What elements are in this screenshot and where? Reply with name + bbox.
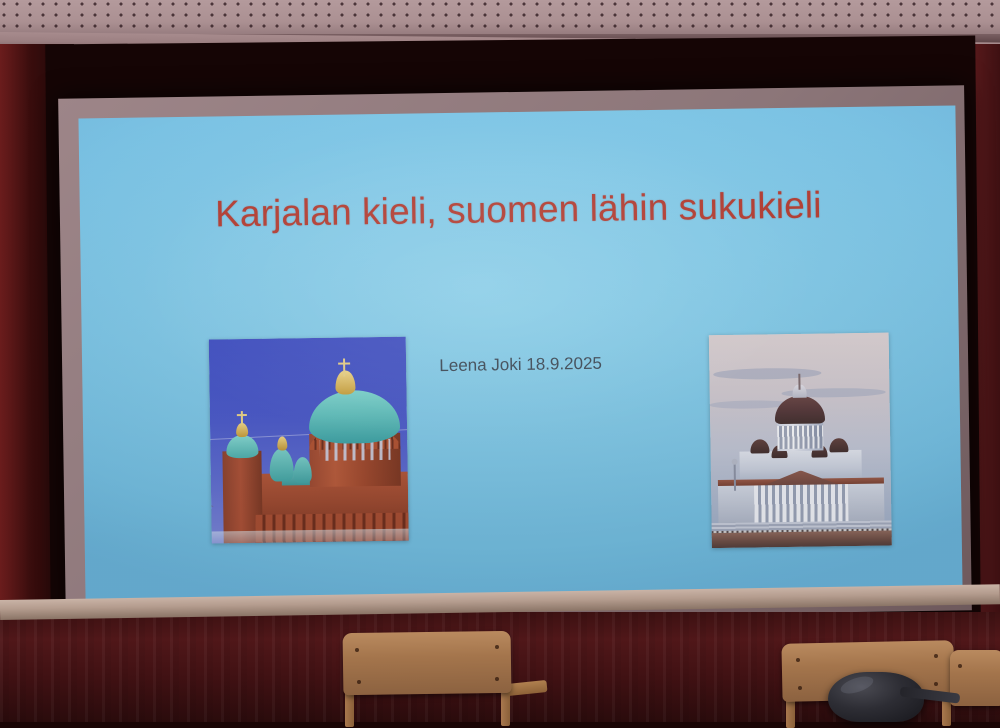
foreground-square: [712, 531, 892, 549]
presentation-slide[interactable]: Karjalan kieli, suomen lähin sukukieli L…: [78, 105, 962, 609]
lecture-room: Karjalan kieli, suomen lähin sukukieli L…: [0, 0, 1000, 722]
screw-icon: [495, 677, 499, 681]
screw-icon: [355, 648, 359, 652]
snow-ground: [212, 529, 409, 544]
screw-icon: [934, 654, 938, 658]
main-cross-icon: [343, 358, 345, 376]
left-wing: [718, 484, 758, 525]
projection-screen-frame: Karjalan kieli, suomen lähin sukukieli L…: [58, 85, 972, 623]
screw-icon: [934, 682, 938, 686]
middle-spire-a-cupola: [277, 437, 287, 451]
spire-icon: [798, 374, 800, 390]
left-tower-cupola: [236, 423, 248, 437]
left-tower-dome: [226, 435, 258, 458]
drum-columns: [777, 425, 824, 449]
lamp-post: [734, 463, 736, 491]
wooden-chair-center[interactable]: [335, 632, 525, 722]
wooden-chair-far-right[interactable]: [950, 644, 1000, 722]
right-wing: [844, 482, 884, 523]
screw-icon: [357, 680, 361, 684]
screw-icon: [796, 658, 800, 662]
slide-title: Karjalan kieli, suomen lähin sukukieli: [150, 183, 887, 238]
portico-colonnade: [754, 485, 848, 525]
screw-icon: [958, 664, 962, 668]
chair-backrest: [343, 631, 512, 695]
screw-icon: [495, 645, 499, 649]
uspenski-cathedral-image: [209, 337, 409, 544]
helsinki-cathedral-image: [709, 332, 892, 548]
screw-icon: [798, 686, 802, 690]
left-tower-cross-icon: [241, 411, 243, 424]
